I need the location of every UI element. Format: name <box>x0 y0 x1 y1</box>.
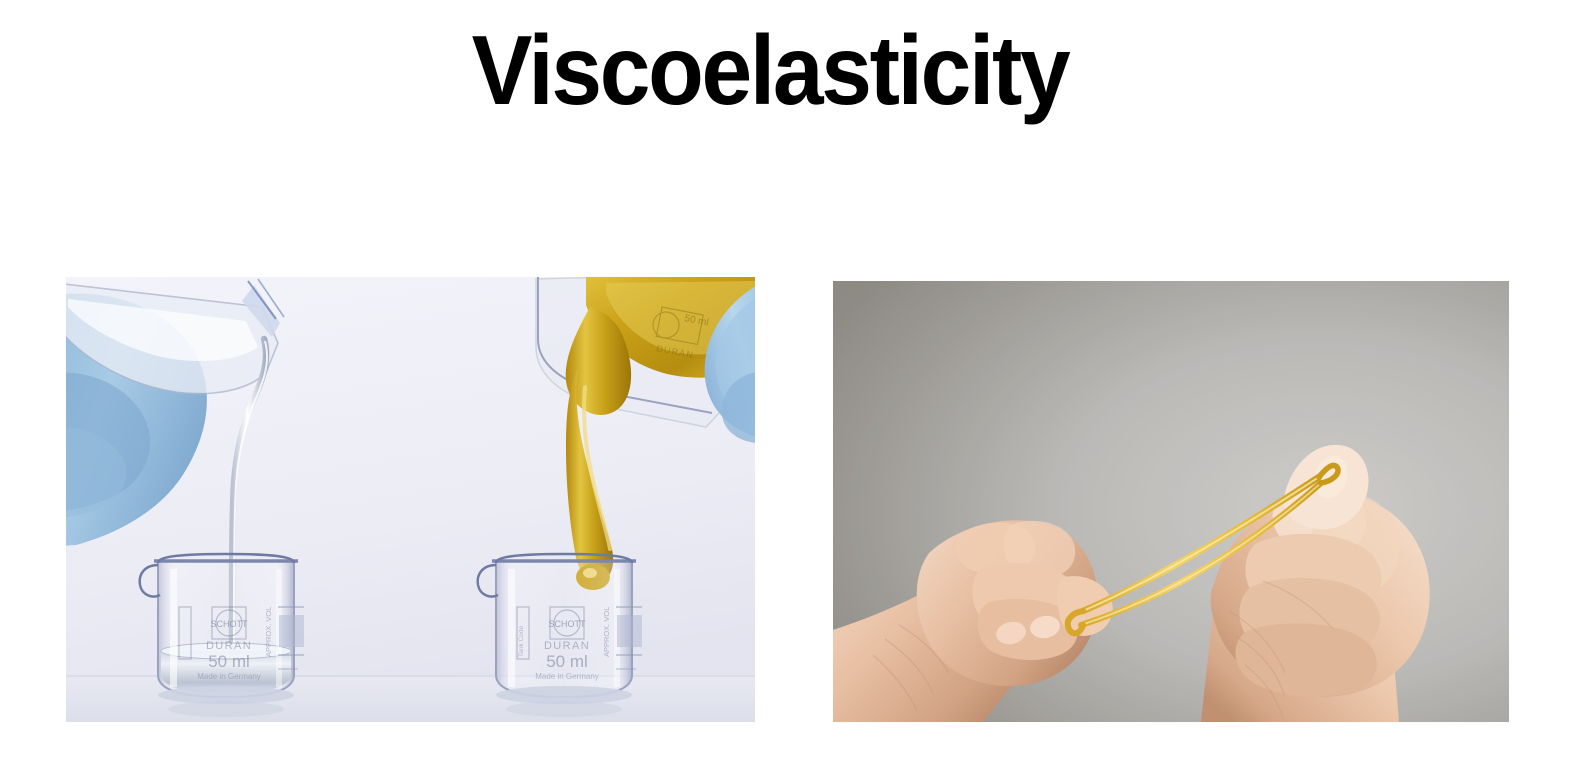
svg-text:APPROX. VOL: APPROX. VOL <box>264 607 273 657</box>
svg-text:Made in Germany: Made in Germany <box>535 672 599 681</box>
svg-text:Tank Code: Tank Code <box>518 626 525 657</box>
svg-text:50 ml: 50 ml <box>546 652 588 671</box>
page-title: Viscoelasticity <box>54 18 1486 124</box>
presentation-slide: Viscoelasticity <box>0 0 1588 772</box>
svg-text:DURAN: DURAN <box>206 640 252 652</box>
svg-text:SCHOTT: SCHOTT <box>549 619 587 629</box>
svg-text:SCHOTT: SCHOTT <box>211 619 249 629</box>
beaker-left: SCHOTT DURAN 50 ml Made in Germany APPRO… <box>140 554 304 717</box>
image-water-and-oil-pouring-into-beakers: SCHOTT DURAN 50 ml Made in Germany APPRO… <box>66 277 755 722</box>
image-hands-stretching-rubber-band <box>833 281 1509 722</box>
svg-text:APPROX. VOL: APPROX. VOL <box>602 607 611 657</box>
svg-text:50 ml: 50 ml <box>208 652 250 671</box>
beaker-right: SCHOTT DURAN 50 ml Made in Germany APPRO… <box>478 554 642 717</box>
svg-text:Made in Germany: Made in Germany <box>197 672 261 681</box>
svg-text:DURAN: DURAN <box>544 640 590 652</box>
